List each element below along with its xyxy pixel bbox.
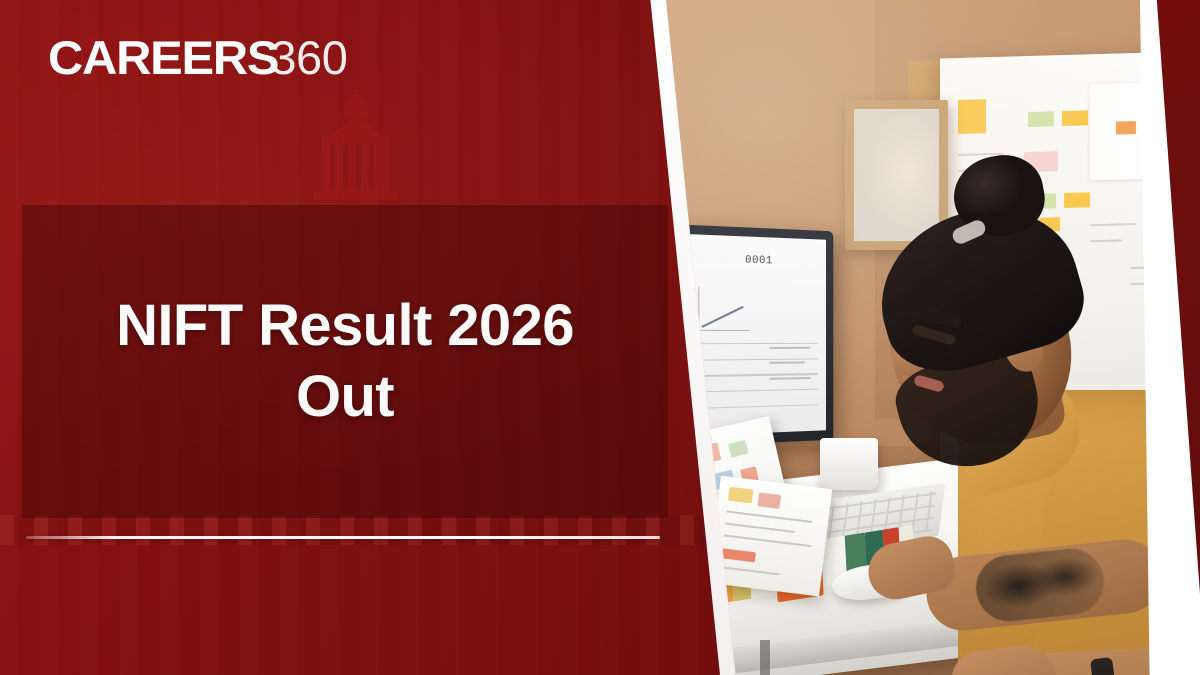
accent-rule	[26, 536, 660, 539]
page-title: NIFT Result 2026 Out	[116, 291, 574, 433]
logo-360-text: 360	[270, 34, 347, 81]
logo-careers-text: CAREERS	[48, 34, 278, 81]
careers360-logo[interactable]: CAREERS360	[48, 34, 347, 81]
classical-building-icon	[306, 96, 406, 200]
headline-line-2: Out	[296, 364, 394, 429]
headline-line-1: NIFT Result 2026	[116, 293, 574, 358]
monitor-screen: 0001	[688, 234, 826, 436]
desk-leg	[760, 640, 770, 675]
screen-label: 0001	[745, 254, 773, 267]
person-figure	[808, 120, 1200, 675]
headline-block: NIFT Result 2026 Out	[22, 205, 668, 518]
screen-chart	[698, 287, 749, 331]
careers360-result-banner: 0001	[0, 0, 1200, 675]
